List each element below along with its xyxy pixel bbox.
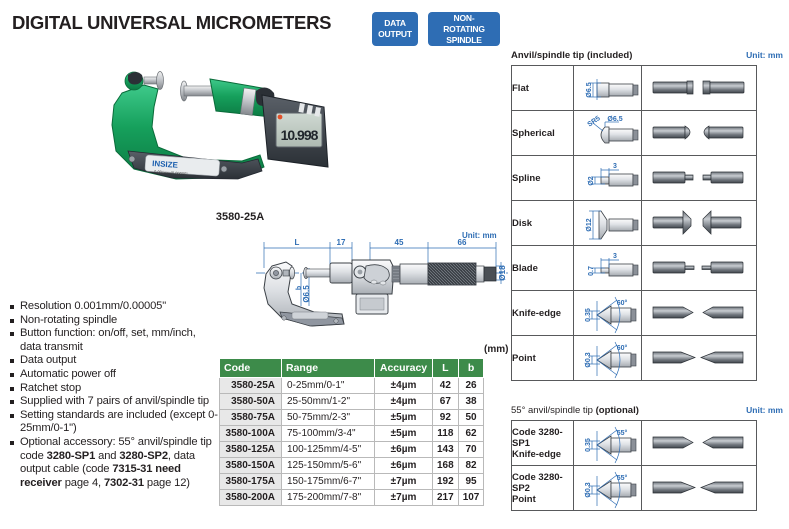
tip-name: Flat: [512, 66, 574, 111]
specification-table: Code Range Accuracy L b 3580-25A0-25mm/0…: [219, 358, 484, 506]
cell-accuracy: ±6µm: [375, 442, 433, 458]
col-header-range: Range: [282, 359, 375, 378]
tip-dimension-drawing: 0.35 60°: [574, 291, 642, 336]
feature-item: Optional accessory: 55° anvil/spindle ti…: [8, 436, 218, 490]
table-row: 3580-100A75-100mm/3-4"±5µm11862: [220, 426, 484, 442]
spec-table-header-row: Code Range Accuracy L b: [220, 359, 484, 378]
tip-photo: [642, 291, 757, 336]
col-header-code: Code: [220, 359, 282, 378]
table-row: 3580-175A150-175mm/6-7"±7µm19295: [220, 474, 484, 490]
table-row: 3580-125A100-125mm/4-5"±6µm14370: [220, 442, 484, 458]
feature-item: Automatic power off: [8, 368, 218, 382]
table-row: 3580-50A25-50mm/1-2"±4µm6738: [220, 394, 484, 410]
svg-text:Ø2: Ø2: [588, 176, 595, 185]
tip-row: Blade 3 0.7: [512, 246, 757, 291]
product-photo: INSIZE 0.001mm/0.00005" 10.998: [92, 55, 332, 205]
cell-l: 92: [433, 410, 459, 426]
cell-range: 100-125mm/4-5": [282, 442, 375, 458]
tip-dimension-drawing: Ø0.3 55°: [574, 466, 642, 511]
badge-non-rotating-spindle: NON-ROTATING SPINDLE: [428, 12, 500, 46]
tip-dimension-drawing: 0.35 55°: [574, 421, 642, 466]
tip-photo: [642, 336, 757, 381]
tip-photo: [642, 66, 757, 111]
page-header: DIGITAL UNIVERSAL MICROMETERS DATA OUTPU…: [12, 8, 512, 52]
cell-range: 0-25mm/0-1": [282, 378, 375, 394]
tip-dimension-drawing: Ø0.3 60°: [574, 336, 642, 381]
tip-name: Spline: [512, 156, 574, 201]
cell-range: 50-75mm/2-3": [282, 410, 375, 426]
cell-l: 143: [433, 442, 459, 458]
svg-text:60°: 60°: [616, 299, 627, 307]
feature-item: Non-rotating spindle: [8, 314, 218, 328]
tip-dimension-drawing: 3 Ø2: [574, 156, 642, 201]
anvil-spindle-tip-optional-section: 55° anvil/spindle tip (optional) Unit: m…: [511, 405, 783, 511]
svg-text:10.998: 10.998: [281, 127, 319, 143]
cell-range: 125-150mm/5-6": [282, 458, 375, 474]
tip-name: Blade: [512, 246, 574, 291]
cell-b: 50: [458, 410, 484, 426]
svg-text:0.35: 0.35: [585, 438, 592, 452]
svg-text:Ø0.3: Ø0.3: [585, 482, 592, 497]
cell-accuracy: ±4µm: [375, 378, 433, 394]
svg-text:3: 3: [613, 163, 617, 170]
tip-row: Knife-edge 0.35 60°: [512, 291, 757, 336]
cell-b: 26: [458, 378, 484, 394]
tip-photo: [642, 246, 757, 291]
tip-row: Flat Ø6.5: [512, 66, 757, 111]
tip-row: Spherical SR5 Ø6.5: [512, 111, 757, 156]
badge-data-output-line2: OUTPUT: [378, 29, 412, 40]
col-header-b: b: [458, 359, 484, 378]
svg-text:66: 66: [458, 238, 467, 247]
cell-b: 82: [458, 458, 484, 474]
tip-included-title: Anvil/spindle tip (included): [511, 50, 632, 61]
cell-l: 168: [433, 458, 459, 474]
badge-data-output-line1: DATA: [378, 18, 412, 29]
svg-text:55°: 55°: [616, 429, 627, 437]
tip-dimension-drawing: 3 0.7: [574, 246, 642, 291]
features-list: Resolution 0.001mm/0.00005"Non-rotating …: [8, 300, 218, 490]
svg-text:b: b: [296, 286, 303, 290]
feature-item: Supplied with 7 pairs of anvil/spindle t…: [8, 395, 218, 409]
tip-photo: [642, 111, 757, 156]
col-header-accuracy: Accuracy: [375, 359, 433, 378]
tip-included-unit-label: Unit: mm: [746, 50, 783, 60]
feature-item: Data output: [8, 354, 218, 368]
tip-photo: [642, 466, 757, 511]
cell-accuracy: ±7µm: [375, 490, 433, 506]
svg-text:55°: 55°: [616, 474, 627, 482]
svg-text:Ø6.5: Ø6.5: [302, 285, 311, 303]
tip-included-table: Flat Ø6.5 Spherical: [511, 65, 757, 381]
feature-item: Button function: on/off, set, mm/inch, d…: [8, 327, 218, 354]
feature-item: Ratchet stop: [8, 382, 218, 396]
cell-l: 42: [433, 378, 459, 394]
feature-item: Resolution 0.001mm/0.00005": [8, 300, 218, 314]
tip-row: Disk Ø12: [512, 201, 757, 246]
tip-dimension-drawing: Ø6.5: [574, 66, 642, 111]
tip-optional-title: 55° anvil/spindle tip (optional): [511, 405, 639, 416]
tip-name: Knife-edge: [512, 291, 574, 336]
cell-l: 67: [433, 394, 459, 410]
cell-l: 217: [433, 490, 459, 506]
cell-code: 3580-100A: [220, 426, 282, 442]
svg-text:Ø6.5: Ø6.5: [607, 116, 622, 123]
tip-optional-body: Code 3280-SP1Knife-edge 0.35 55°: [512, 421, 757, 511]
tip-optional-unit-label: Unit: mm: [746, 405, 783, 415]
cell-accuracy: ±4µm: [375, 394, 433, 410]
cell-code: 3580-150A: [220, 458, 282, 474]
svg-text:17: 17: [337, 238, 346, 247]
svg-text:60°: 60°: [616, 344, 627, 352]
badge-data-output: DATA OUTPUT: [372, 12, 418, 46]
cell-accuracy: ±7µm: [375, 474, 433, 490]
badge-non-rotating-line2: SPINDLE: [434, 35, 494, 46]
product-code-label: 3580-25A: [180, 211, 300, 223]
cell-range: 25-50mm/1-2": [282, 394, 375, 410]
tip-photo: [642, 201, 757, 246]
tip-included-body: Flat Ø6.5 Spherical: [512, 66, 757, 381]
spec-table-unit-label: (mm): [484, 344, 508, 355]
micrometer-dimension-svg: L 17 45 66 Ø18 Ø6.5 b: [252, 228, 514, 338]
svg-text:Ø6.5: Ø6.5: [586, 82, 593, 97]
tip-name: Spherical: [512, 111, 574, 156]
feature-item: Setting standards are included (except 0…: [8, 409, 218, 436]
tip-name: Code 3280-SP2Point: [512, 466, 574, 511]
cell-code: 3580-50A: [220, 394, 282, 410]
table-row: 3580-75A50-75mm/2-3"±5µm9250: [220, 410, 484, 426]
svg-text:Ø0.3: Ø0.3: [585, 352, 592, 367]
cell-b: 38: [458, 394, 484, 410]
svg-text:0.7: 0.7: [588, 266, 595, 276]
cell-accuracy: ±5µm: [375, 410, 433, 426]
tip-name: Code 3280-SP1Knife-edge: [512, 421, 574, 466]
tip-row: Point Ø0.3 60°: [512, 336, 757, 381]
cell-b: 95: [458, 474, 484, 490]
cell-range: 175-200mm/7-8": [282, 490, 375, 506]
cell-b: 62: [458, 426, 484, 442]
svg-text:Ø18: Ø18: [498, 265, 507, 281]
svg-text:45: 45: [395, 238, 404, 247]
tip-optional-header: 55° anvil/spindle tip (optional) Unit: m…: [511, 405, 783, 416]
tip-row: Spline 3 Ø2: [512, 156, 757, 201]
cell-l: 118: [433, 426, 459, 442]
spec-table-body: 3580-25A0-25mm/0-1"±4µm42263580-50A25-50…: [220, 378, 484, 506]
cell-range: 75-100mm/3-4": [282, 426, 375, 442]
tip-name: Disk: [512, 201, 574, 246]
svg-text:SR5: SR5: [586, 115, 601, 129]
svg-text:L: L: [295, 238, 300, 247]
tip-photo: [642, 156, 757, 201]
tip-row: Code 3280-SP2Point Ø0.3 55°: [512, 466, 757, 511]
micrometer-illustration: INSIZE 0.001mm/0.00005" 10.998: [92, 55, 332, 205]
cell-accuracy: ±6µm: [375, 458, 433, 474]
tip-photo: [642, 421, 757, 466]
cell-code: 3580-75A: [220, 410, 282, 426]
col-header-l: L: [433, 359, 459, 378]
table-row: 3580-200A175-200mm/7-8"±7µm217107: [220, 490, 484, 506]
svg-text:0.35: 0.35: [585, 308, 592, 322]
cell-range: 150-175mm/6-7": [282, 474, 375, 490]
cell-accuracy: ±5µm: [375, 426, 433, 442]
tip-row: Code 3280-SP1Knife-edge 0.35 55°: [512, 421, 757, 466]
cell-b: 70: [458, 442, 484, 458]
anvil-spindle-tip-included-section: Anvil/spindle tip (included) Unit: mm Fl…: [511, 50, 783, 381]
cell-b: 107: [458, 490, 484, 506]
page-title: DIGITAL UNIVERSAL MICROMETERS: [12, 12, 331, 34]
table-row: 3580-25A0-25mm/0-1"±4µm4226: [220, 378, 484, 394]
cell-code: 3580-175A: [220, 474, 282, 490]
tip-dimension-drawing: Ø12: [574, 201, 642, 246]
svg-text:Ø12: Ø12: [586, 218, 593, 231]
tip-dimension-drawing: SR5 Ø6.5: [574, 111, 642, 156]
tip-optional-table: Code 3280-SP1Knife-edge 0.35 55°: [511, 420, 757, 511]
svg-text:3: 3: [613, 253, 617, 260]
cell-code: 3580-125A: [220, 442, 282, 458]
dimension-drawing: L 17 45 66 Ø18 Ø6.5 b: [252, 228, 514, 338]
tip-included-header: Anvil/spindle tip (included) Unit: mm: [511, 50, 783, 61]
table-row: 3580-150A125-150mm/5-6"±6µm16882: [220, 458, 484, 474]
cell-code: 3580-200A: [220, 490, 282, 506]
cell-code: 3580-25A: [220, 378, 282, 394]
tip-name: Point: [512, 336, 574, 381]
cell-l: 192: [433, 474, 459, 490]
badge-non-rotating-line1: NON-ROTATING: [434, 13, 494, 35]
